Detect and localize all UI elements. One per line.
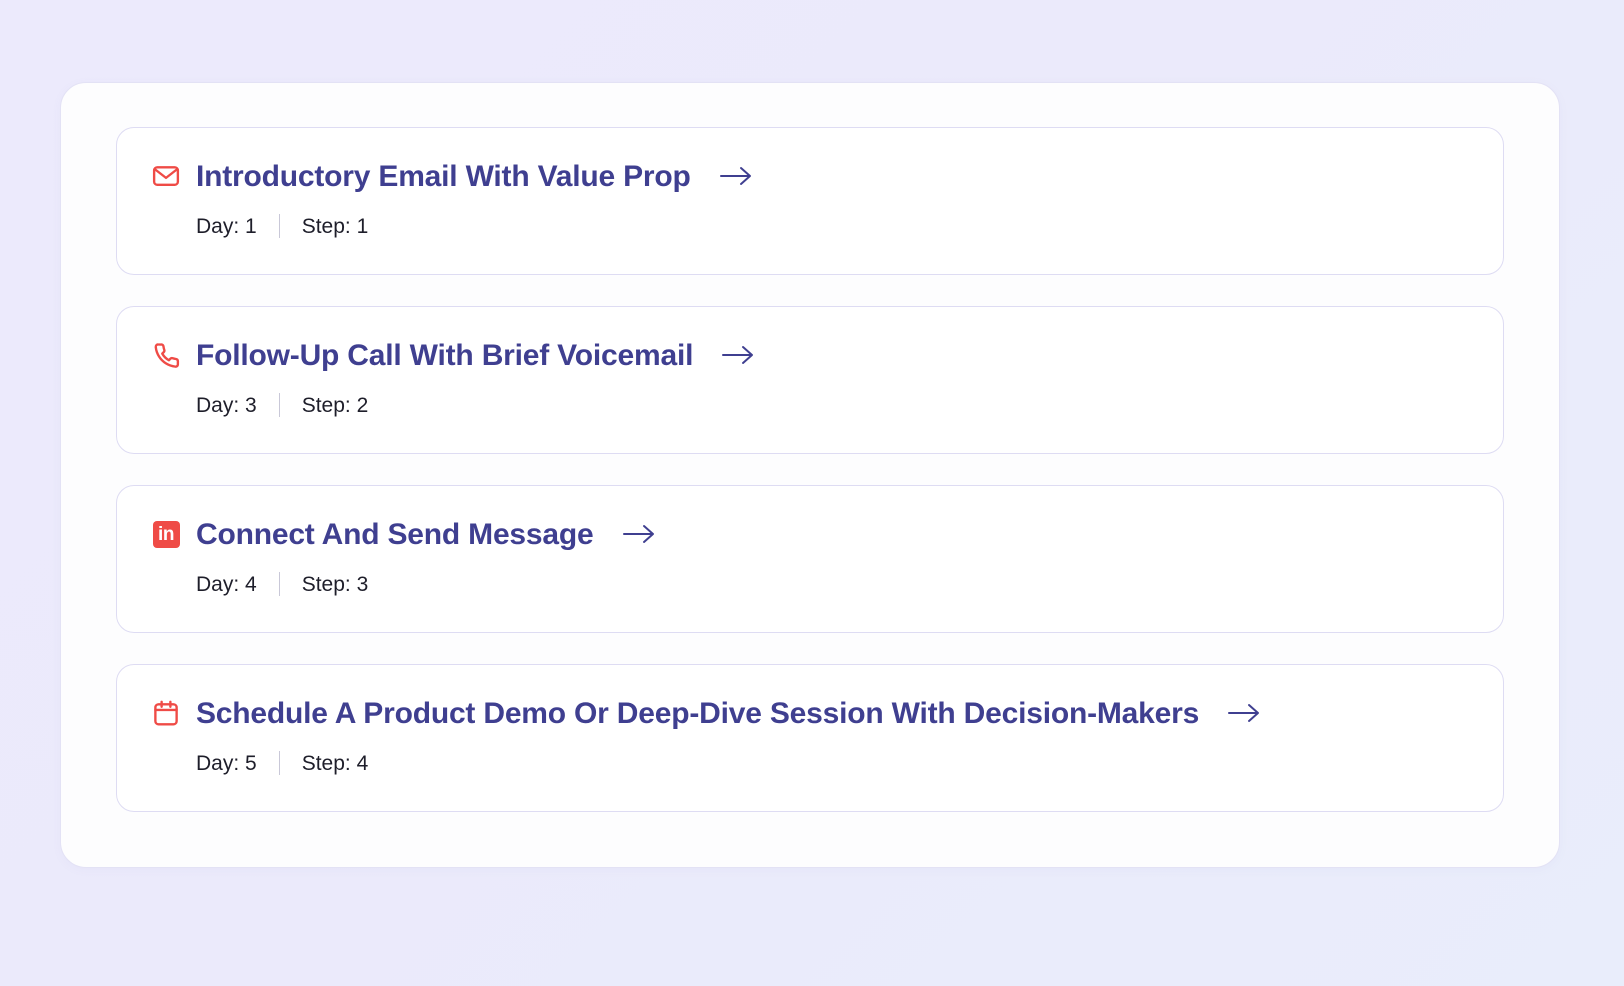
arrow-right-icon[interactable] bbox=[622, 523, 656, 545]
phone-icon bbox=[150, 339, 182, 371]
step-card[interactable]: in Connect And Send Message Day: 4 Step:… bbox=[116, 485, 1504, 633]
step-day-label: Day: 4 bbox=[196, 574, 257, 595]
mail-icon bbox=[150, 160, 182, 192]
linkedin-badge-label: in bbox=[153, 521, 180, 548]
step-card[interactable]: Introductory Email With Value Prop Day: … bbox=[116, 127, 1504, 275]
meta-divider bbox=[279, 214, 280, 238]
arrow-right-icon[interactable] bbox=[721, 344, 755, 366]
step-title: Schedule A Product Demo Or Deep-Dive Ses… bbox=[196, 697, 1199, 730]
page-root: Introductory Email With Value Prop Day: … bbox=[0, 0, 1624, 986]
step-card[interactable]: Follow-Up Call With Brief Voicemail Day:… bbox=[116, 306, 1504, 454]
meta-divider bbox=[279, 572, 280, 596]
step-meta: Day: 5 Step: 4 bbox=[196, 751, 1473, 775]
step-card-header: Schedule A Product Demo Or Deep-Dive Ses… bbox=[150, 691, 1473, 735]
calendar-icon bbox=[150, 697, 182, 729]
step-meta: Day: 3 Step: 2 bbox=[196, 393, 1473, 417]
step-meta: Day: 1 Step: 1 bbox=[196, 214, 1473, 238]
step-card-header: Introductory Email With Value Prop bbox=[150, 154, 1473, 198]
arrow-right-icon[interactable] bbox=[719, 165, 753, 187]
step-number-label: Step: 1 bbox=[302, 216, 369, 237]
step-day-label: Day: 1 bbox=[196, 216, 257, 237]
step-card-header: Follow-Up Call With Brief Voicemail bbox=[150, 333, 1473, 377]
linkedin-icon: in bbox=[150, 518, 182, 550]
step-number-label: Step: 2 bbox=[302, 395, 369, 416]
step-number-label: Step: 3 bbox=[302, 574, 369, 595]
meta-divider bbox=[279, 751, 280, 775]
step-card-header: in Connect And Send Message bbox=[150, 512, 1473, 556]
step-day-label: Day: 5 bbox=[196, 753, 257, 774]
arrow-right-icon[interactable] bbox=[1227, 702, 1261, 724]
step-day-label: Day: 3 bbox=[196, 395, 257, 416]
sequence-panel: Introductory Email With Value Prop Day: … bbox=[60, 82, 1560, 868]
step-title: Connect And Send Message bbox=[196, 518, 594, 551]
step-card[interactable]: Schedule A Product Demo Or Deep-Dive Ses… bbox=[116, 664, 1504, 812]
meta-divider bbox=[279, 393, 280, 417]
step-title: Introductory Email With Value Prop bbox=[196, 160, 691, 193]
step-number-label: Step: 4 bbox=[302, 753, 369, 774]
step-title: Follow-Up Call With Brief Voicemail bbox=[196, 339, 693, 372]
step-meta: Day: 4 Step: 3 bbox=[196, 572, 1473, 596]
